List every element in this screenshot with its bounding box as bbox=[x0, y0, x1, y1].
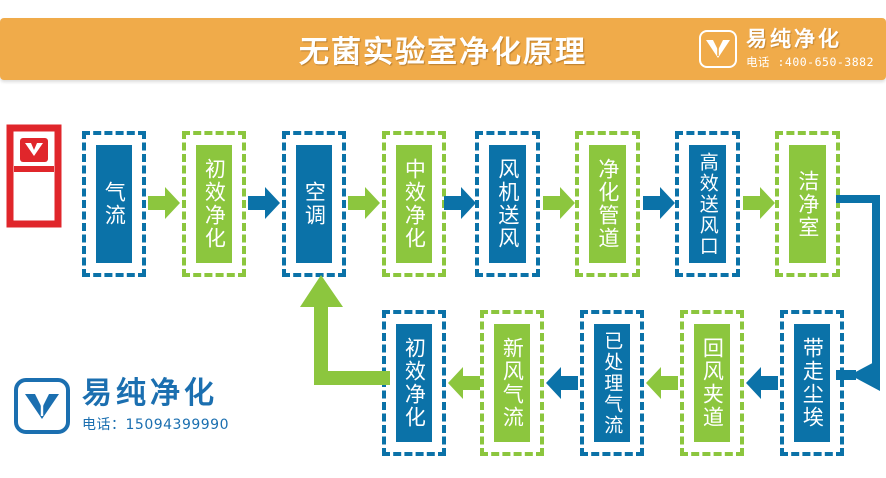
node-label: 洁净室 bbox=[796, 170, 819, 239]
arrow-yichuli-to-xinfeng bbox=[546, 366, 578, 400]
node-label: 风机送风 bbox=[496, 158, 519, 250]
yichun-w-mark-icon bbox=[14, 378, 70, 434]
node-label: 中效净化 bbox=[403, 158, 426, 250]
svg-text:易: 易 bbox=[17, 183, 32, 201]
brand-phone: 电话 :400-650-3882 bbox=[746, 54, 874, 70]
node-qiliu[interactable]: 气流 bbox=[82, 131, 146, 277]
footer-logo: 易纯净化 电话：15094399990 bbox=[14, 378, 229, 434]
arrow-gaoxiao-to-jiejingshi bbox=[743, 186, 775, 220]
node-label: 高效送风口 bbox=[697, 152, 718, 257]
arrow-guandao-to-gaoxiao bbox=[643, 186, 675, 220]
node-yichuli-qiliu[interactable]: 已处理气流 bbox=[580, 310, 644, 456]
footer-brand-name: 易纯净化 bbox=[82, 378, 229, 410]
node-label: 气流 bbox=[103, 181, 126, 227]
arrow-chuxiao-to-kongtiao bbox=[248, 186, 280, 220]
node-label: 净化管道 bbox=[596, 158, 619, 250]
node-huifeng-jiadao[interactable]: 回风夹道 bbox=[680, 310, 744, 456]
diagram-canvas: 无菌实验室净化原理 易纯净化 电话 :400-650-3882 bbox=[0, 0, 886, 478]
brand-name: 易纯净化 bbox=[746, 28, 842, 50]
arrow-daizou-to-huifeng bbox=[746, 366, 778, 400]
header-logo-text: 易纯净化 电话 :400-650-3882 bbox=[746, 28, 874, 69]
header-logo: 易纯净化 电话 :400-650-3882 bbox=[699, 24, 874, 74]
arrow-zhongxiao-to-fengji bbox=[444, 186, 476, 220]
red-seal-stamp-icon: 易 舒 纯 化 bbox=[6, 124, 62, 228]
node-chuxiao-jinghua-2[interactable]: 初效净化 bbox=[382, 310, 446, 456]
node-label: 带走尘埃 bbox=[801, 337, 824, 429]
node-label: 新风气流 bbox=[501, 337, 524, 429]
svg-text:舒: 舒 bbox=[35, 183, 50, 201]
node-zhongxiao-jinghua[interactable]: 中效净化 bbox=[382, 131, 446, 277]
arrow-kongtiao-to-zhongxiao bbox=[348, 186, 380, 220]
node-jiejingshi[interactable]: 洁净室 bbox=[775, 131, 840, 277]
arrow-huifeng-to-yichuli bbox=[646, 366, 678, 400]
node-xinfeng-qiliu[interactable]: 新风气流 bbox=[480, 310, 544, 456]
footer-phone: 电话：15094399990 bbox=[82, 414, 229, 434]
connector-chuxiao-up-to-kongtiao bbox=[300, 275, 390, 390]
node-label: 已处理气流 bbox=[602, 331, 623, 436]
arrow-xinfeng-to-chuxiao bbox=[448, 366, 480, 400]
arrow-qiliu-to-chuxiao bbox=[148, 186, 180, 220]
node-label: 空调 bbox=[303, 181, 326, 227]
footer-logo-text: 易纯净化 电话：15094399990 bbox=[82, 378, 229, 434]
node-label: 初效净化 bbox=[403, 337, 426, 429]
node-label: 回风夹道 bbox=[701, 337, 724, 429]
node-jinghua-guandao[interactable]: 净化管道 bbox=[575, 131, 640, 277]
arrow-fengji-to-guandao bbox=[543, 186, 575, 220]
svg-text:纯: 纯 bbox=[17, 203, 32, 221]
node-fengji-songfeng[interactable]: 风机送风 bbox=[475, 131, 540, 277]
node-kongtiao[interactable]: 空调 bbox=[282, 131, 346, 277]
node-label: 初效净化 bbox=[203, 158, 226, 250]
node-chuxiao-jinghua-1[interactable]: 初效净化 bbox=[182, 131, 246, 277]
yichun-w-mark-icon bbox=[699, 30, 737, 68]
node-daizou-chenai[interactable]: 带走尘埃 bbox=[780, 310, 844, 456]
svg-text:化: 化 bbox=[35, 203, 50, 221]
node-gaoxiao-songfengkou[interactable]: 高效送风口 bbox=[675, 131, 740, 277]
header-banner: 无菌实验室净化原理 易纯净化 电话 :400-650-3882 bbox=[0, 18, 886, 80]
